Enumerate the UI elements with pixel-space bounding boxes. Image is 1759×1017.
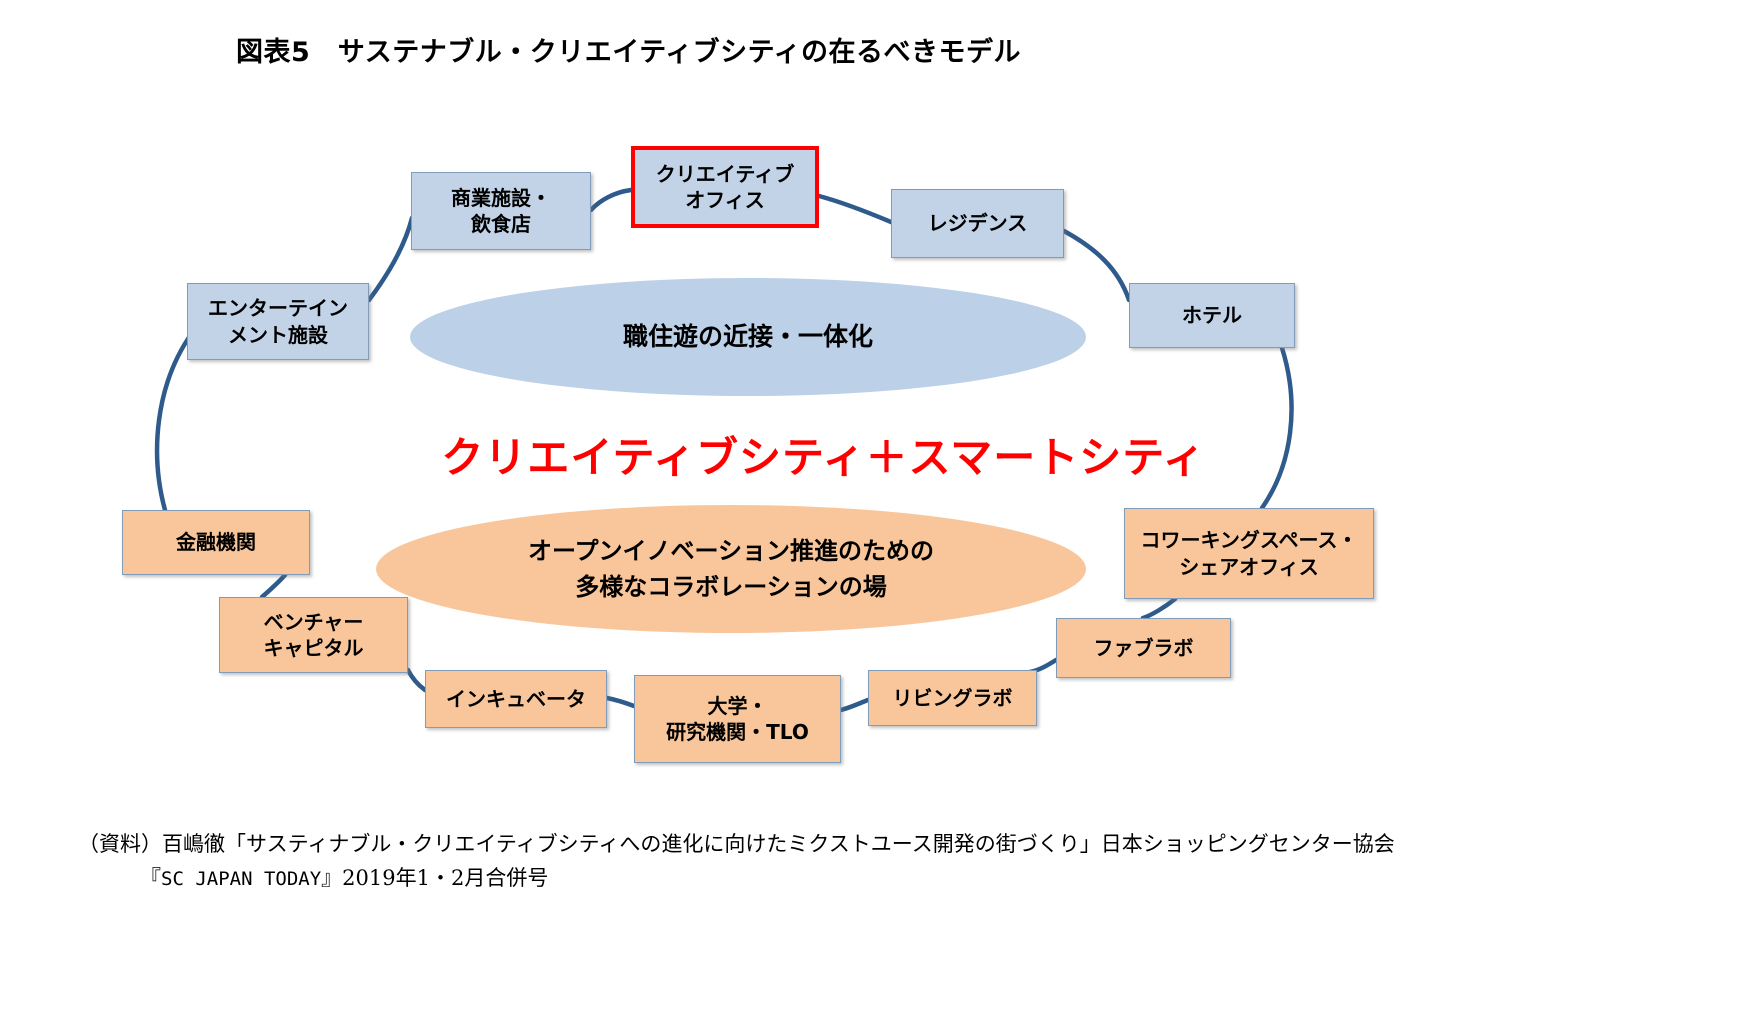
node-residence-label: レジデンス [922, 210, 1034, 236]
connector-venture-finance [262, 575, 285, 597]
ellipse-proximity-label: 職住遊の近接・一体化 [623, 318, 873, 356]
node-coworking[interactable]: コワーキングスペース・ シェアオフィス [1124, 508, 1374, 599]
node-coworking-label: コワーキングスペース・ シェアオフィス [1135, 527, 1364, 580]
node-creative-office[interactable]: クリエイティブ オフィス [631, 146, 819, 228]
center-headline: クリエイティブシティ＋スマートシティ [0, 424, 1703, 485]
node-commercial-label: 商業施設・ 飲食店 [445, 185, 557, 238]
source-note-line1: （資料）百嶋徹「サスティナブル・クリエイティブシティへの進化に向けたミクストユー… [78, 832, 1395, 856]
node-hotel-label: ホテル [1176, 302, 1248, 328]
connector-living-lab-university [841, 700, 868, 710]
node-fablab-label: ファブラボ [1088, 635, 1200, 661]
node-finance-label: 金融機関 [170, 529, 262, 555]
connector-university-incubator [607, 698, 634, 706]
connector-residence-hotel [1064, 231, 1129, 300]
connector-entertainment-commercial [369, 218, 412, 300]
ellipse-open-innovation: オープンイノベーション推進のための 多様なコラボレーションの場 [376, 505, 1086, 633]
connector-coworking-fablab [1143, 599, 1175, 618]
node-venture-capital[interactable]: ベンチャー キャピタル [219, 597, 408, 673]
connector-incubator-venture [408, 670, 425, 690]
node-living-lab[interactable]: リビングラボ [868, 670, 1037, 726]
source-issue: 』2019年1・2月合併号 [321, 866, 548, 890]
connector-creative-office-residence [819, 196, 891, 222]
ellipse-proximity: 職住遊の近接・一体化 [410, 278, 1086, 396]
ellipse-open-innovation-label: オープンイノベーション推進のための 多様なコラボレーションの場 [528, 533, 934, 605]
node-creative-office-label: クリエイティブ オフィス [650, 161, 800, 214]
node-finance[interactable]: 金融機関 [122, 510, 310, 575]
node-university-label: 大学・ 研究機関・TLO [660, 693, 815, 746]
node-entertainment[interactable]: エンターテイン メント施設 [187, 283, 369, 360]
node-residence[interactable]: レジデンス [891, 189, 1064, 258]
source-note-line2: 『SC JAPAN TODAY』2019年1・2月合併号 [78, 862, 1698, 896]
node-university[interactable]: 大学・ 研究機関・TLO [634, 675, 841, 763]
node-commercial[interactable]: 商業施設・ 飲食店 [411, 172, 591, 250]
node-living-lab-label: リビングラボ [887, 685, 1019, 711]
node-entertainment-label: エンターテイン メント施設 [202, 295, 354, 348]
source-note: （資料）百嶋徹「サスティナブル・クリエイティブシティへの進化に向けたミクストユー… [78, 828, 1698, 895]
source-quote-open: 『 [140, 866, 161, 890]
connector-commercial-creative-office [591, 190, 631, 210]
node-incubator[interactable]: インキュベータ [425, 670, 607, 728]
node-fablab[interactable]: ファブラボ [1056, 618, 1231, 678]
node-venture-capital-label: ベンチャー キャピタル [258, 609, 370, 662]
source-publication: SC JAPAN TODAY [161, 868, 321, 890]
node-incubator-label: インキュベータ [440, 686, 592, 712]
node-hotel[interactable]: ホテル [1129, 283, 1295, 348]
